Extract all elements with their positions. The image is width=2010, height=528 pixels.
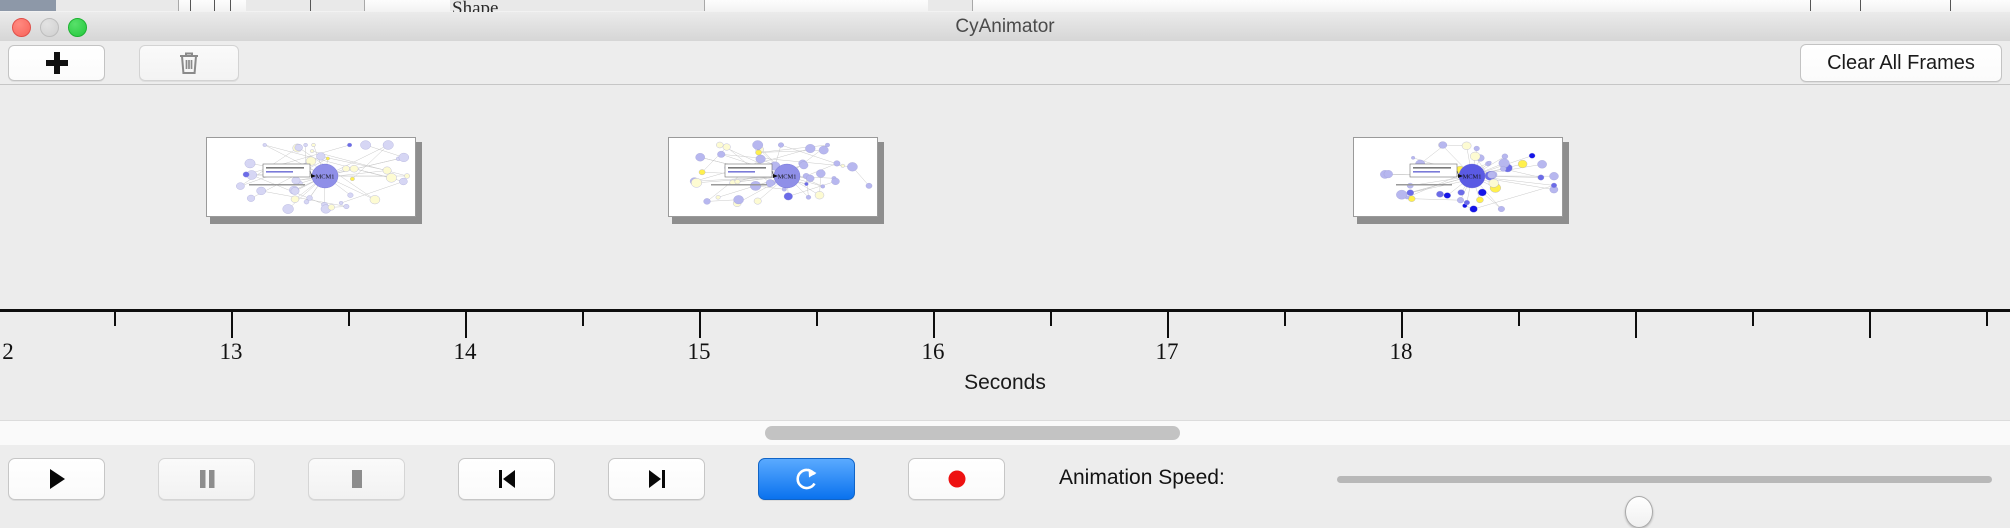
playback-control-bar: Animation Speed: [0, 445, 2010, 510]
bg-divider [1860, 0, 1861, 11]
bg-divider [1810, 0, 1811, 11]
ruler-tick-major [465, 312, 467, 338]
ruler-tick-major [1635, 312, 1637, 338]
ruler-tick-label: 16 [922, 339, 945, 365]
clear-all-frames-button[interactable]: Clear All Frames [1800, 44, 2002, 82]
bg-divider [1950, 0, 1951, 11]
delete-frame-button[interactable] [139, 45, 239, 81]
loop-icon [795, 466, 819, 492]
ruler-tick-major [1401, 312, 1403, 338]
title-bar: CyAnimator [0, 12, 2010, 42]
bg-segment [56, 0, 135, 11]
ruler-tick-label: 13 [220, 339, 243, 365]
timeline-scrollbar-thumb[interactable] [765, 426, 1180, 440]
stop-icon [347, 467, 367, 491]
record-icon [945, 467, 969, 491]
ruler-tick-minor [1518, 312, 1520, 326]
frames-panel[interactable]: MCM1 MCM1 MCM1 [0, 85, 2010, 310]
skip-forward-icon [646, 467, 668, 491]
ruler-tick-minor [1050, 312, 1052, 326]
plus-icon [46, 52, 68, 74]
ruler-tick-label: 2 [2, 339, 14, 365]
stop-button[interactable] [308, 458, 405, 500]
ruler-tick-minor [348, 312, 350, 326]
ruler-tick-minor [816, 312, 818, 326]
bg-divider [310, 0, 311, 11]
frame-thumbnail[interactable]: MCM1 [1353, 137, 1565, 219]
ruler-tick-minor [582, 312, 584, 326]
ruler-tick-major [933, 312, 935, 338]
ruler-tick-major [1869, 312, 1871, 338]
record-button[interactable] [908, 458, 1005, 500]
cyanimator-window: Shape CyAnimator Clear All Frames MCM1 M… [0, 0, 2010, 510]
play-button[interactable] [8, 458, 105, 500]
ruler-baseline [0, 309, 2010, 312]
ruler-tick-minor [1986, 312, 1988, 326]
ruler-tick-label: 18 [1390, 339, 1413, 365]
play-icon [46, 467, 68, 491]
ruler-tick-minor [1752, 312, 1754, 326]
animation-speed-slider[interactable] [1337, 476, 1992, 483]
window-title: CyAnimator [0, 12, 2010, 41]
bg-segment [0, 0, 57, 11]
ruler-axis-title: Seconds [0, 371, 2010, 395]
ruler-tick-major [231, 312, 233, 338]
skip-back-icon [496, 467, 518, 491]
thumbnail-image: MCM1 [206, 137, 416, 217]
bg-segment [246, 0, 293, 11]
svg-text:MCM1: MCM1 [316, 174, 335, 181]
timeline-scrollbar-track[interactable] [0, 420, 2010, 446]
bg-divider [190, 0, 191, 11]
bg-segment [292, 0, 365, 11]
ruler-tick-label: 14 [454, 339, 477, 365]
ruler-tick-minor [114, 312, 116, 326]
bg-segment [134, 0, 179, 11]
thumbnail-image: MCM1 [1353, 137, 1563, 217]
trash-icon [177, 50, 201, 76]
loop-button[interactable] [758, 458, 855, 500]
timeline-ruler[interactable]: 2131415161718 Seconds [0, 309, 2010, 419]
frame-toolbar: Clear All Frames [0, 41, 2010, 85]
bg-divider [214, 0, 215, 11]
bg-divider [230, 0, 231, 11]
skip-to-start-button[interactable] [458, 458, 555, 500]
thumbnail-image: MCM1 [668, 137, 878, 217]
bg-segment [928, 0, 973, 11]
ruler-tick-label: 15 [688, 339, 711, 365]
add-frame-button[interactable] [8, 45, 105, 81]
frame-thumbnail[interactable]: MCM1 [206, 137, 418, 219]
frame-thumbnail[interactable]: MCM1 [668, 137, 880, 219]
skip-to-end-button[interactable] [608, 458, 705, 500]
animation-speed-knob[interactable] [1625, 496, 1653, 528]
ruler-tick-minor [1284, 312, 1286, 326]
svg-text:MCM1: MCM1 [1463, 174, 1482, 181]
svg-text:MCM1: MCM1 [778, 174, 797, 181]
animation-speed-label: Animation Speed: [1059, 458, 1225, 498]
pause-button[interactable] [158, 458, 255, 500]
pause-icon [197, 467, 217, 491]
ruler-tick-major [1167, 312, 1169, 338]
ruler-tick-major [699, 312, 701, 338]
ruler-tick-label: 17 [1156, 339, 1179, 365]
